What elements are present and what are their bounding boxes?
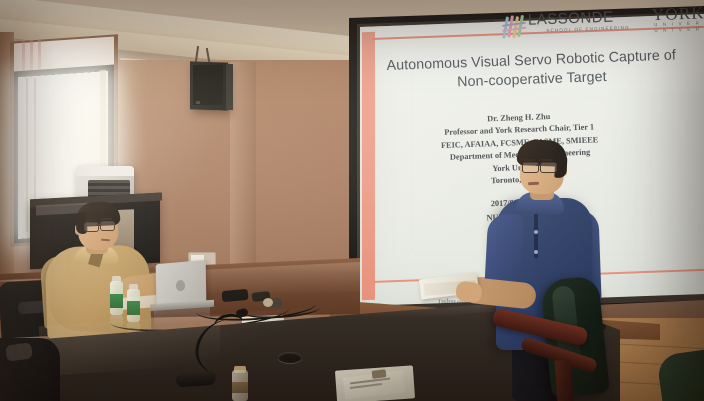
presenter-glasses-lens	[522, 162, 539, 173]
foreground-bottle-label	[232, 382, 248, 393]
presenter-shirt-button	[534, 250, 538, 254]
presenter-glasses-lens	[540, 162, 557, 173]
presenter-glasses-bridge	[536, 165, 541, 166]
microphone-base	[176, 371, 217, 388]
speaker-led-icon	[196, 101, 200, 104]
seated-attendee-brow	[101, 218, 112, 220]
presentation-photo-scene: LASSONDE SCHOOL OF ENGINEERING YORK U N …	[0, 0, 704, 401]
lassonde-mark-icon	[502, 15, 529, 40]
executive-chair-post	[555, 359, 574, 401]
seated-attendee-table-reflection	[48, 272, 158, 334]
table-cable-grommet	[278, 352, 302, 363]
seated-attendee-glasses-lens	[100, 221, 115, 231]
presenter-brow	[541, 159, 553, 161]
presenter-shirt-button	[534, 230, 538, 234]
presenter-mouth	[528, 182, 539, 186]
air-conditioner-top	[76, 166, 134, 176]
laptop-logo-icon	[176, 280, 185, 291]
seated-attendee-brow	[85, 219, 96, 221]
speaker-side-panel	[226, 64, 233, 110]
speaker-grille-icon	[193, 65, 223, 105]
presenter-brow	[523, 159, 535, 161]
seated-attendee-glasses-bridge	[96, 224, 101, 225]
